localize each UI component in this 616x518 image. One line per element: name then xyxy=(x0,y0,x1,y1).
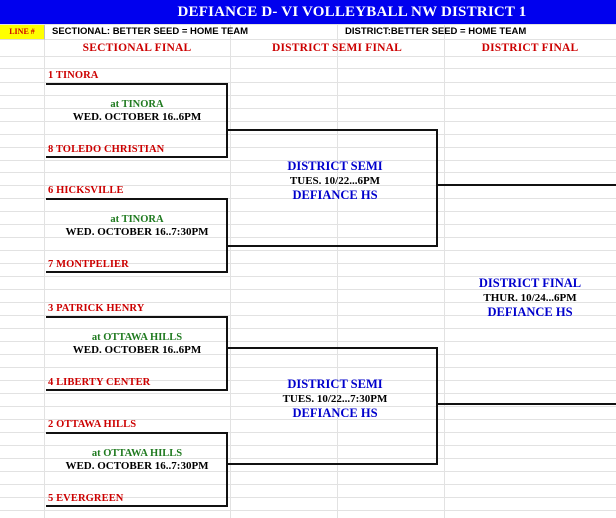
game-site: at OTTAWA HILLS xyxy=(46,447,228,460)
bracket-line-final-bottom xyxy=(436,403,616,405)
team-label: 7 MONTPELIER xyxy=(48,259,129,271)
game-site: at TINORA xyxy=(46,98,228,111)
bracket-line-top xyxy=(46,316,228,318)
sectional-game-info: at OTTAWA HILLS WED. OCTOBER 16..6PM xyxy=(46,331,228,357)
team-label: 8 TOLEDO CHRISTIAN xyxy=(48,144,164,156)
game-site: at OTTAWA HILLS xyxy=(46,331,228,344)
bracket-page: DEFIANCE D- VI VOLLEYBALL NW DISTRICT 1 … xyxy=(0,0,616,518)
game-datetime: WED. OCTOBER 16..6PM xyxy=(46,111,228,124)
game-datetime: WED. OCTOBER 16..7:30PM xyxy=(46,226,228,239)
district-semi-datetime: TUES. 10/22...7:30PM xyxy=(232,392,438,406)
bracket-line-top xyxy=(226,129,438,131)
district-final-info: DISTRICT FINAL THUR. 10/24...6PM DEFIANC… xyxy=(444,276,616,320)
bracket-line-top xyxy=(46,198,228,200)
bracket-line-top xyxy=(226,347,438,349)
team-label: 2 OTTAWA HILLS xyxy=(48,419,136,431)
district-semi-site: DEFIANCE HS xyxy=(232,188,438,203)
game-datetime: WED. OCTOBER 16..6PM xyxy=(46,344,228,357)
bracket-line-bottom xyxy=(46,271,228,273)
notes-row: SECTIONAL: BETTER SEED = HOME TEAM DISTR… xyxy=(45,25,616,39)
sectional-game-info: at OTTAWA HILLS WED. OCTOBER 16..7:30PM xyxy=(46,447,228,473)
district-semi-site: DEFIANCE HS xyxy=(232,406,438,421)
district-final-site: DEFIANCE HS xyxy=(444,305,616,320)
page-title: DEFIANCE D- VI VOLLEYBALL NW DISTRICT 1 xyxy=(0,0,616,24)
note-district-seed: DISTRICT:BETTER SEED = HOME TEAM xyxy=(345,25,526,39)
game-datetime: WED. OCTOBER 16..7:30PM xyxy=(46,460,228,473)
bracket-line-top xyxy=(46,83,228,85)
round-header-district-final: DISTRICT FINAL xyxy=(444,41,616,56)
round-header-district-semi-final: DISTRICT SEMI FINAL xyxy=(230,41,444,56)
sectional-game-info: at TINORA WED. OCTOBER 16..6PM xyxy=(46,98,228,124)
bracket-line-bottom xyxy=(226,463,438,465)
bracket-line-bottom xyxy=(46,156,228,158)
bracket-line-top xyxy=(46,432,228,434)
round-header-sectional-final: SECTIONAL FINAL xyxy=(44,41,230,56)
district-semi-info: DISTRICT SEMI TUES. 10/22...7:30PM DEFIA… xyxy=(232,377,438,421)
team-label: 3 PATRICK HENRY xyxy=(48,303,144,315)
team-label: 1 TINORA xyxy=(48,70,99,82)
team-label: 5 EVERGREEN xyxy=(48,493,124,505)
title-bar: DEFIANCE D- VI VOLLEYBALL NW DISTRICT 1 xyxy=(0,0,616,24)
bracket-line-bottom xyxy=(46,505,228,507)
note-sectional-seed: SECTIONAL: BETTER SEED = HOME TEAM xyxy=(52,25,248,39)
team-label: 6 HICKSVILLE xyxy=(48,185,124,197)
bracket-line-bottom xyxy=(46,389,228,391)
line-number-cell: LINE # xyxy=(0,25,45,40)
bracket-line-bottom xyxy=(226,245,438,247)
district-final-round-label: DISTRICT FINAL xyxy=(444,276,616,291)
district-final-datetime: THUR. 10/24...6PM xyxy=(444,291,616,305)
district-semi-round-label: DISTRICT SEMI xyxy=(232,159,438,174)
team-label: 4 LIBERTY CENTER xyxy=(48,377,150,389)
district-semi-info: DISTRICT SEMI TUES. 10/22...6PM DEFIANCE… xyxy=(232,159,438,203)
bracket-line-final-top xyxy=(436,184,616,186)
game-site: at TINORA xyxy=(46,213,228,226)
district-semi-round-label: DISTRICT SEMI xyxy=(232,377,438,392)
sectional-game-info: at TINORA WED. OCTOBER 16..7:30PM xyxy=(46,213,228,239)
district-semi-datetime: TUES. 10/22...6PM xyxy=(232,174,438,188)
